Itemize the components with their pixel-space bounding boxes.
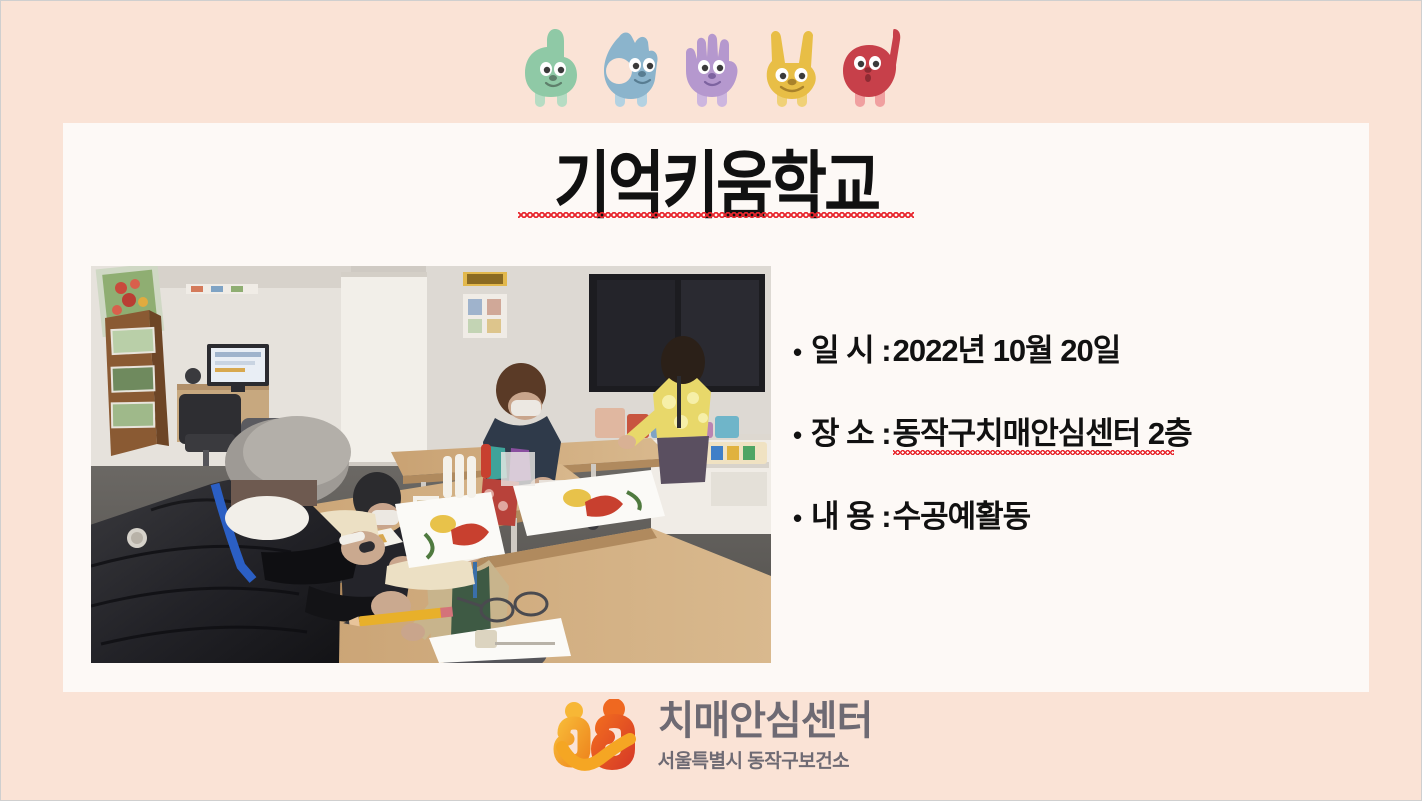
detail-label-date: 일 시 :: [811, 325, 891, 370]
activity-photo: [91, 266, 771, 663]
logo-organization: 서울특별시 동작구보건소: [658, 746, 873, 773]
list-item: • 내 용 : 수공예활동: [793, 491, 1353, 536]
center-logo-icon: [552, 699, 644, 773]
logo-name: 치매안심센터: [658, 700, 873, 742]
detail-label-location: 장 소 :: [811, 408, 891, 453]
rock-sign-hand-mascot: [759, 23, 825, 113]
detail-label-content: 내 용 :: [811, 491, 891, 536]
presentation-slide: 기억키움학교: [0, 0, 1422, 801]
page-title-wrap: 기억키움학교: [63, 145, 1369, 216]
bullet-dot-icon: •: [793, 505, 811, 531]
title-spellcheck-underline: [518, 212, 914, 218]
slide-card: 기억키움학교: [63, 123, 1369, 692]
detail-value-date: 2022년 10월 20일: [893, 325, 1121, 370]
detail-value-content: 수공예활동: [893, 491, 1031, 536]
list-item: • 일 시 : 2022년 10월 20일: [793, 325, 1353, 370]
footer-logo: 치매안심센터 서울특별시 동작구보건소: [1, 699, 1422, 773]
ok-sign-hand-mascot: [599, 23, 665, 113]
open-palm-hand-mascot: [679, 23, 745, 113]
thumbs-up-hand-mascot: [519, 23, 585, 113]
details-list: • 일 시 : 2022년 10월 20일 • 장 소 : 동작구치매안심센터 …: [793, 325, 1353, 574]
mascot-row: [1, 17, 1422, 113]
list-item: • 장 소 : 동작구치매안심센터 2층: [793, 408, 1353, 453]
logo-text-block: 치매안심센터 서울특별시 동작구보건소: [658, 700, 873, 773]
bullet-dot-icon: •: [793, 339, 811, 365]
fist-hand-mascot: [839, 23, 905, 113]
bullet-dot-icon: •: [793, 422, 811, 448]
detail-value-location: 동작구치매안심센터 2층: [893, 408, 1192, 453]
